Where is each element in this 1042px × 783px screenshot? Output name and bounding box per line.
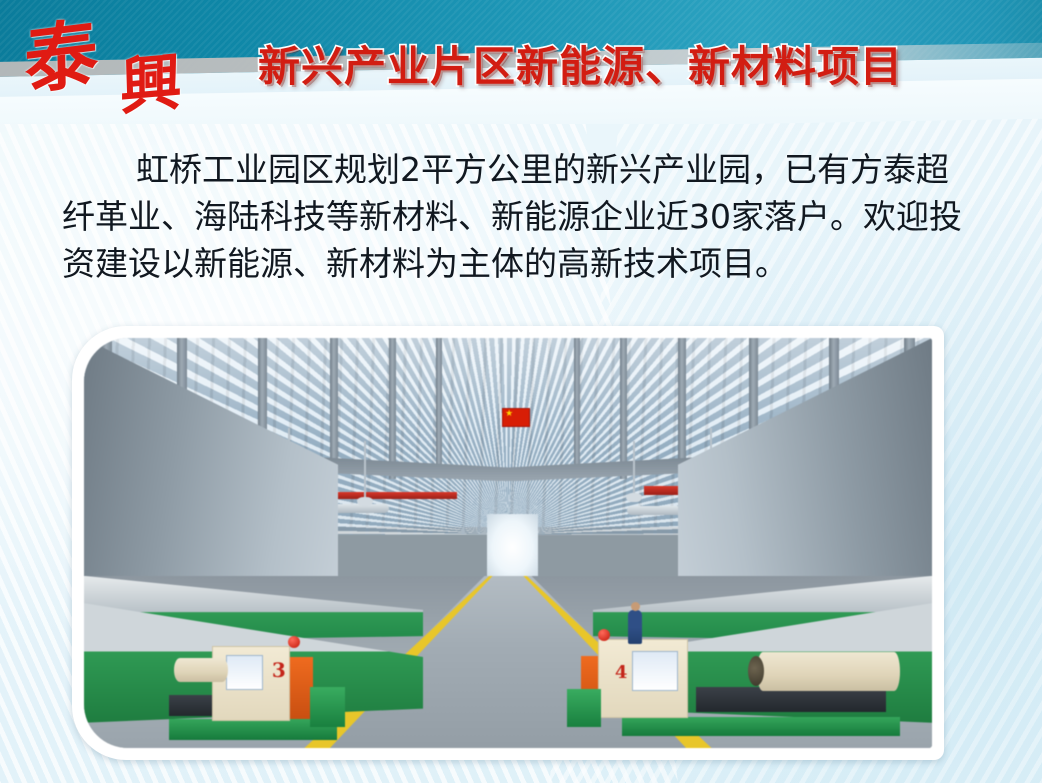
paragraph-line-3: 资建设以新能源、新材料为主体的高新技术项目。 xyxy=(62,240,980,287)
machine-4-number: 4 xyxy=(615,662,628,683)
photo-hanging-lamp-4 xyxy=(633,441,635,494)
machine-3-material-roll xyxy=(174,658,228,682)
logo-char-tai: 泰 xyxy=(23,0,98,110)
machine-4-base xyxy=(622,717,900,736)
photo-far-doorway xyxy=(487,514,538,580)
machine-4-roll-core xyxy=(748,656,764,686)
machine-3-green-box xyxy=(310,687,345,726)
taixing-seal-logo: 泰 興 xyxy=(14,2,204,114)
machine-3-number: 3 xyxy=(272,658,286,682)
paragraph-line-2: 纤革业、海陆科技等新材料、新能源企业近30家落户。欢迎投 xyxy=(62,193,980,240)
machine-4-material-roll xyxy=(757,652,899,692)
body-paragraph: 虹桥工业园区规划2平方公里的新兴产业园，已有方泰超 纤革业、海陆科技等新材料、新… xyxy=(62,146,980,287)
machine-unit-4: 4 xyxy=(567,588,906,736)
slide-root: 泰 興 新兴产业片区新能源、新材料项目 虹桥工业园区规划2平方公里的新兴产业园，… xyxy=(0,0,1042,783)
paragraph-line-1: 虹桥工业园区规划2平方公里的新兴产业园，已有方泰超 xyxy=(62,146,980,193)
photo-hanging-lamp-2 xyxy=(364,441,366,498)
page-title: 新兴产业片区新能源、新材料项目 xyxy=(258,33,903,94)
logo-char-xing: 興 xyxy=(120,31,182,127)
machine-3-indicator-lamp xyxy=(288,636,300,648)
factory-interior-photo: 3 4 xyxy=(84,338,932,748)
machine-3-info-label xyxy=(226,655,263,690)
photo-national-flag xyxy=(502,408,530,427)
photo-frame: 3 4 xyxy=(72,326,944,760)
machine-unit-3: 3 xyxy=(169,609,440,740)
machine-4-green-box xyxy=(567,689,601,727)
machine-4-info-label xyxy=(632,651,678,691)
photo-worker xyxy=(628,610,642,644)
